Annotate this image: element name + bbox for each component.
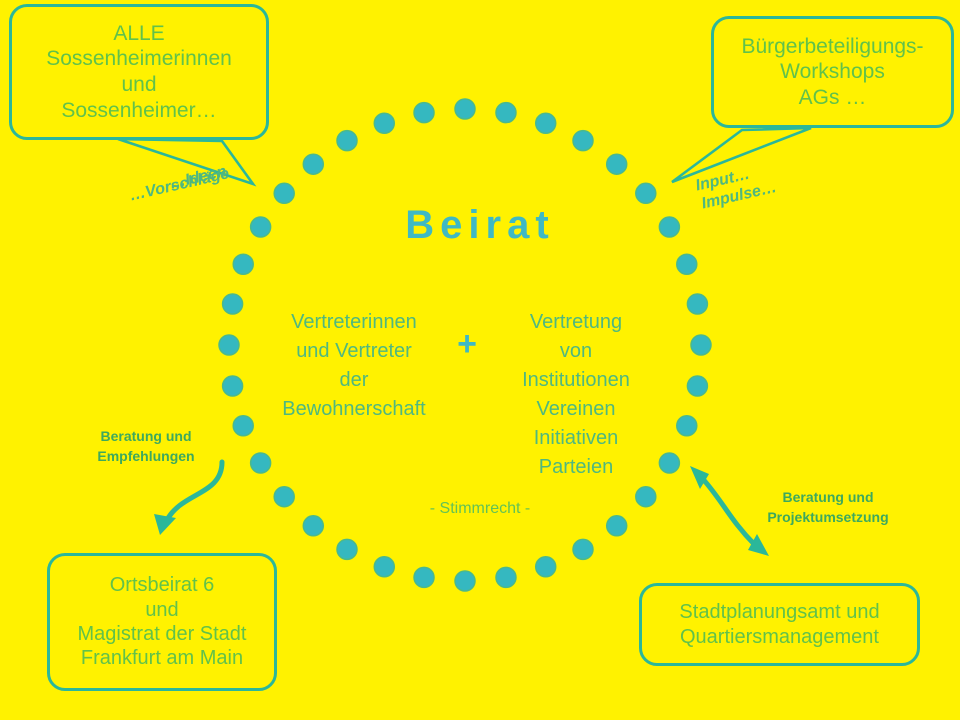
center-column-right: Vertretung von Institutionen Vereinen In… [481, 308, 671, 482]
box-line: Stadtplanungsamt und [679, 600, 879, 624]
center-right-line: Initiativen [481, 424, 671, 453]
ring-dot [303, 516, 323, 536]
arrow-right-head-upper [690, 466, 709, 489]
tail-label-vorschlaege: …Vorschläge [128, 165, 231, 205]
ring-dot [233, 254, 253, 274]
box-ortsbeirat-magistrat[interactable]: Ortsbeirat 6 und Magistrat der Stadt Fra… [47, 553, 277, 691]
ring-dot [687, 294, 707, 314]
center-right-line: von [481, 337, 671, 366]
ring-dot [687, 376, 707, 396]
ring-dot [374, 557, 394, 577]
callout-line: Sossenheimer… [61, 98, 216, 124]
ring-dot [303, 154, 323, 174]
callout-line: Sossenheimerinnen [46, 46, 232, 72]
ring-dot [573, 131, 593, 151]
box-line: Ortsbeirat 6 [110, 573, 214, 597]
center-left-line: der [259, 366, 449, 395]
ring-dot [573, 539, 593, 559]
ring-dot [496, 103, 516, 123]
ring-dot [607, 154, 627, 174]
center-column-left: Vertreterinnen und Vertreter der Bewohne… [259, 308, 449, 424]
ring-dot [496, 567, 516, 587]
arrow-label-right-line2: Projektumsetzung [743, 508, 913, 528]
arrow-label-left: Beratung und Empfehlungen [76, 427, 216, 466]
ring-dot [414, 567, 434, 587]
ring-dot [337, 539, 357, 559]
box-stadtplanungsamt-quartiersmanagement[interactable]: Stadtplanungsamt und Quartiersmanagement [639, 583, 920, 666]
ring-dot [223, 294, 243, 314]
ring-dot [677, 416, 697, 436]
ring-dot [223, 376, 243, 396]
callout-line: ALLE [113, 21, 164, 47]
diagram-title-beirat: Beirat [0, 203, 960, 248]
box-line: und [145, 598, 178, 622]
arrow-label-right: Beratung und Projektumsetzung [743, 488, 913, 527]
ring-dot [455, 99, 475, 119]
ring-dot [636, 183, 656, 203]
callout-line: Bürgerbeteiligungs- [741, 34, 923, 60]
callout-line: und [121, 72, 156, 98]
arrow-label-right-line1: Beratung und [743, 488, 913, 508]
box-line: Magistrat der Stadt [78, 622, 247, 646]
center-right-line: Institutionen [481, 366, 671, 395]
arrow-right-head-lower [748, 534, 769, 556]
ring-dot [536, 557, 556, 577]
callout-line: Workshops [780, 59, 885, 85]
callout-box-buergerbeteiligung[interactable]: Bürgerbeteiligungs- Workshops AGs … [711, 16, 954, 128]
ring-dot [414, 103, 434, 123]
ring-dot [374, 113, 394, 133]
ring-dot [455, 571, 475, 591]
ring-dot [677, 254, 697, 274]
center-left-line: und Vertreter [259, 337, 449, 366]
ring-dot [607, 516, 627, 536]
callout-line: AGs … [799, 85, 867, 111]
ring-dot [274, 183, 294, 203]
ring-dot [691, 335, 711, 355]
arrow-label-left-line1: Beratung und [76, 427, 216, 447]
ring-dot [219, 335, 239, 355]
box-line: Frankfurt am Main [81, 646, 243, 670]
center-right-line: Vertretung [481, 308, 671, 337]
ring-dot [233, 416, 253, 436]
center-left-line: Bewohnerschaft [259, 395, 449, 424]
center-right-line: Vereinen [481, 395, 671, 424]
center-right-line: Parteien [481, 453, 671, 482]
box-line: Quartiersmanagement [680, 625, 879, 649]
ring-dot [251, 453, 271, 473]
diagram-canvas: ALLE Sossenheimerinnen und Sossenheimer…… [0, 0, 960, 720]
ring-dot [536, 113, 556, 133]
ring-dot [337, 131, 357, 151]
center-left-line: Vertreterinnen [259, 308, 449, 337]
callout-box-alle-sossenheimer[interactable]: ALLE Sossenheimerinnen und Sossenheimer… [9, 4, 269, 140]
arrow-label-left-line2: Empfehlungen [76, 447, 216, 467]
